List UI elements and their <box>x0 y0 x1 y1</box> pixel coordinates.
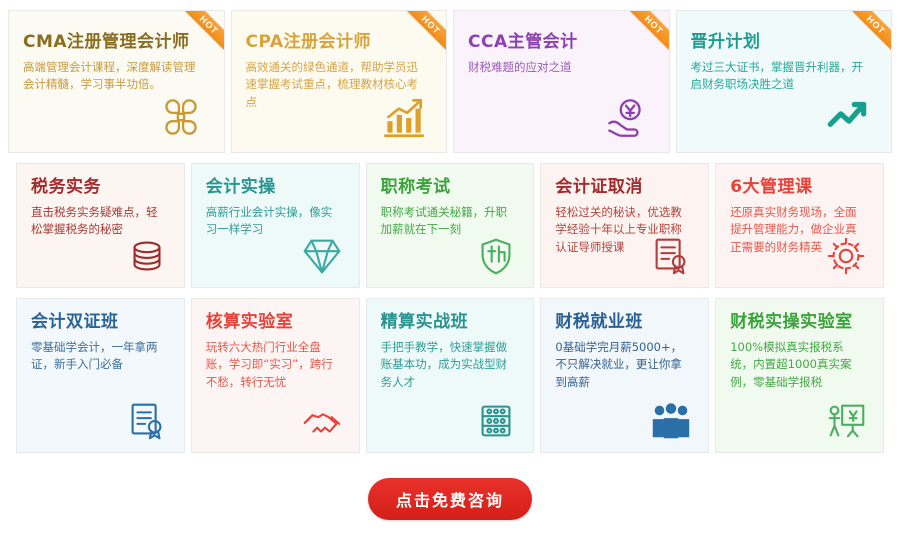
course-card-title: 会计实操 <box>206 178 347 198</box>
course-card-title: 6大管理课 <box>730 178 871 198</box>
course-card-title: 财税实操实验室 <box>730 313 871 333</box>
course-card[interactable]: 会计证取消轻松过关的秘诀，优选教学经验十年以上专业职称认证导师授课 <box>540 163 709 288</box>
presenter-yuan-board-icon <box>823 398 869 444</box>
course-card[interactable]: 精算实战班手把手教学，快速掌握做账基本功，成为实战型财务人才 <box>366 298 535 453</box>
course-card-title: CCA主管会计 <box>468 33 655 53</box>
certificate-seal-icon <box>124 398 170 444</box>
course-card[interactable]: 会计实操高薪行业会计实操，像实习一样学习 <box>191 163 360 288</box>
course-card[interactable]: HOT晋升计划考过三大证书，掌握晋升利器，开启财务职场决胜之道 <box>676 10 893 153</box>
course-card-title: 职称考试 <box>381 178 522 198</box>
people-group-icon <box>648 398 694 444</box>
course-card-title: 财税就业班 <box>555 313 696 333</box>
course-card-description: 0基础学完月薪5000+，不只解决就业，更让你拿到高薪 <box>555 339 687 392</box>
course-card[interactable]: 财税实操实验室100%模拟真实报税系统，内置超1000真实案例，零基础学报税 <box>715 298 884 453</box>
cta-container: 点击免费咨询 <box>0 478 900 520</box>
handshake-icon <box>299 398 345 444</box>
course-card-title: 精算实战班 <box>381 313 522 333</box>
clover-icon <box>156 92 206 142</box>
course-card[interactable]: 财税就业班0基础学完月薪5000+，不只解决就业，更让你拿到高薪 <box>540 298 709 453</box>
certificate-seal-icon <box>648 233 694 279</box>
promo-page: HOTCMA注册管理会计师高端管理会计课程，深度解读管理会计精髓，学习事半功倍。… <box>0 0 900 534</box>
course-card-description: 玩转六大热门行业全盘账，学习即“实习”，跨行不愁，转行无忧 <box>206 339 338 392</box>
course-card-title: 税务实务 <box>31 178 172 198</box>
course-card-title: 会计证取消 <box>555 178 696 198</box>
course-card-title: 会计双证班 <box>31 313 172 333</box>
course-card[interactable]: HOTCCA主管会计财税难题的应对之道 <box>453 10 670 153</box>
course-card[interactable]: 职称考试职称考试通关秘籍，升职加薪就在下一刻 <box>366 163 535 288</box>
course-card[interactable]: 6大管理课还原真实财务现场，全面提升管理能力，做企业真正需要的财务精英 <box>715 163 884 288</box>
hand-yuan-coin-icon <box>601 92 651 142</box>
course-card[interactable]: HOTCPA注册会计师高效通关的绿色通道，帮助学员迅速掌握考试重点，梳理教材核心… <box>231 10 448 153</box>
course-card-title: 晋升计划 <box>691 33 878 53</box>
courses-row-2: 会计双证班零基础学会计，一年拿两证，新手入门必备核算实验室玩转六大热门行业全盘账… <box>0 288 900 453</box>
gear-icon <box>823 233 869 279</box>
course-card-description: 考过三大证书，掌握晋升利器，开启财务职场决胜之道 <box>691 59 866 95</box>
course-card-description: 100%模拟真实报税系统，内置超1000真实案例，零基础学报税 <box>730 339 862 392</box>
featured-row: HOTCMA注册管理会计师高端管理会计课程，深度解读管理会计精髓，学习事半功倍。… <box>0 0 900 153</box>
course-card[interactable]: 会计双证班零基础学会计，一年拿两证，新手入门必备 <box>16 298 185 453</box>
course-card[interactable]: HOTCMA注册管理会计师高端管理会计课程，深度解读管理会计精髓，学习事半功倍。 <box>8 10 225 153</box>
coin-stack-icon <box>124 233 170 279</box>
course-card[interactable]: 税务实务直击税务实务疑难点，轻松掌握税务的秘密 <box>16 163 185 288</box>
diamond-icon <box>299 233 345 279</box>
course-card-title: CPA注册会计师 <box>246 33 433 53</box>
shield-chu-badge-icon <box>473 233 519 279</box>
abacus-icon <box>473 398 519 444</box>
course-card-description: 零基础学会计，一年拿两证，新手入门必备 <box>31 339 163 375</box>
courses-row-1: 税务实务直击税务实务疑难点，轻松掌握税务的秘密会计实操高薪行业会计实操，像实习一… <box>0 153 900 288</box>
course-card-title: 核算实验室 <box>206 313 347 333</box>
free-consult-button[interactable]: 点击免费咨询 <box>368 478 532 520</box>
trend-up-arrow-icon <box>823 92 873 142</box>
course-card[interactable]: 核算实验室玩转六大热门行业全盘账，学习即“实习”，跨行不愁，转行无忧 <box>191 298 360 453</box>
course-card-description: 高端管理会计课程，深度解读管理会计精髓，学习事半功倍。 <box>23 59 198 95</box>
bar-chart-growth-icon <box>378 92 428 142</box>
course-card-description: 手把手教学，快速掌握做账基本功，成为实战型财务人才 <box>381 339 513 392</box>
course-card-title: CMA注册管理会计师 <box>23 33 210 53</box>
course-card-description: 财税难题的应对之道 <box>468 59 643 77</box>
